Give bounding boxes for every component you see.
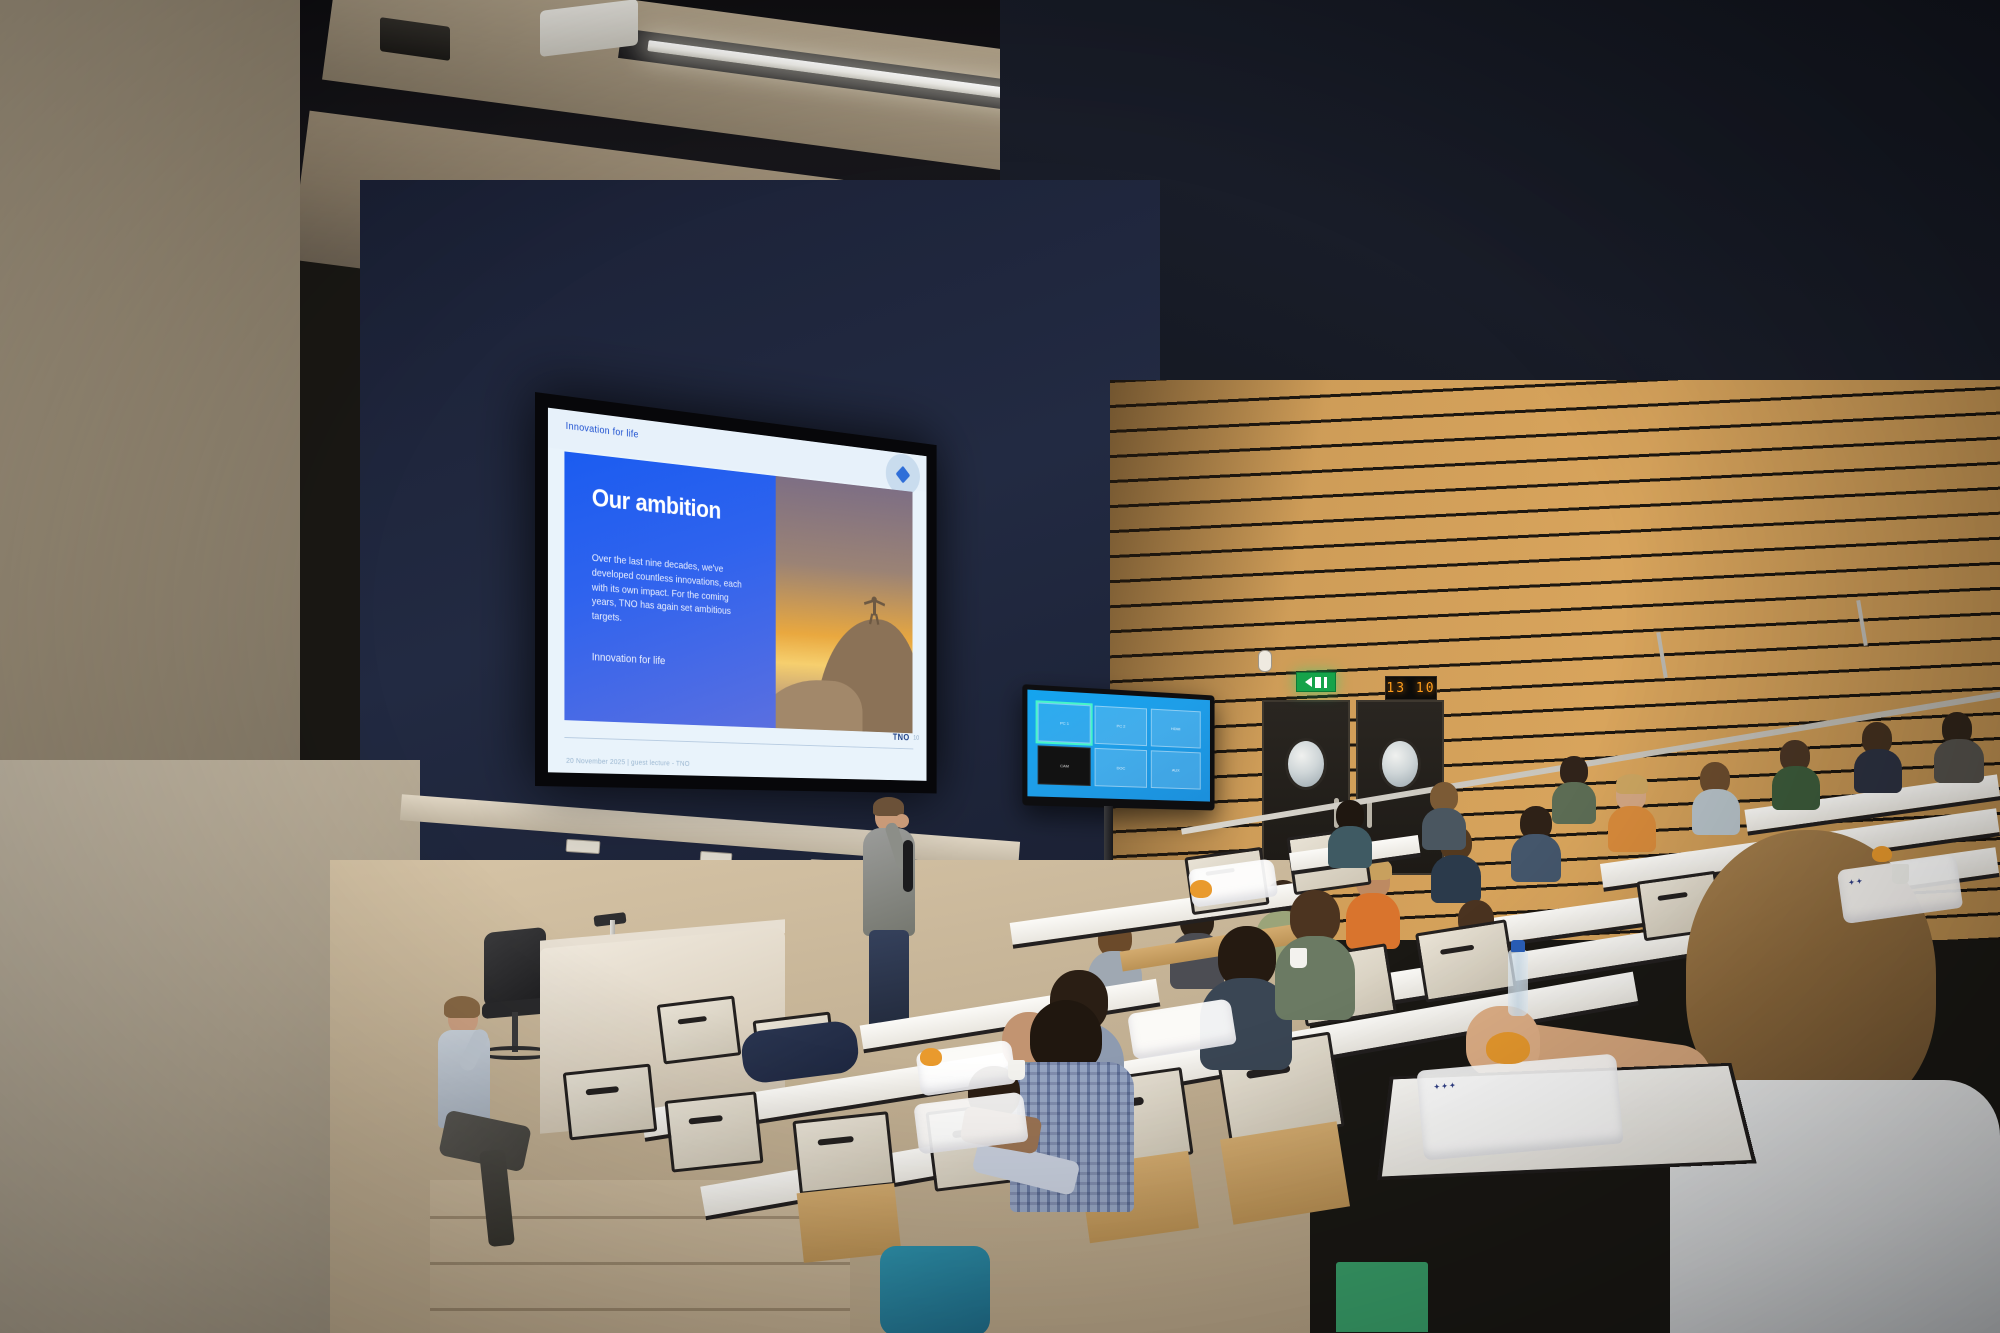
audience-far-3-body [1934, 739, 1984, 783]
audience-far-6-body [1511, 834, 1561, 882]
wood-seat-base-2 [1220, 1121, 1350, 1224]
presenter-microphone[interactable] [903, 840, 913, 892]
seat-back-front-3 [563, 1064, 658, 1141]
exit-door-icon [1324, 677, 1327, 688]
av-control-monitor[interactable]: PC 1 PC 2 HDMI CAM DOC AUX [1022, 684, 1214, 810]
orange-peel-foreground [1486, 1032, 1530, 1064]
wall-socket-1[interactable] [566, 839, 601, 854]
figure-leg-right [875, 614, 879, 625]
slide-body: Our ambition Over the last nine decades,… [565, 452, 913, 734]
monitor-tile-6[interactable]: AUX [1151, 750, 1201, 789]
monitor-tile-2[interactable]: PC 2 [1095, 706, 1147, 747]
lunch-bag-print-2: ✦ ✦ [1848, 877, 1863, 887]
slide-footer-rule [565, 737, 913, 749]
water-bottle [1508, 950, 1528, 1016]
exit-arrow-icon [1305, 677, 1312, 687]
lunch-bag-foreground: ✦ ✦ ✦ [1416, 1053, 1623, 1160]
step-edge-2 [430, 1262, 850, 1265]
audience-center-3-body [1552, 782, 1596, 824]
wall-speaker-small [1258, 650, 1272, 672]
audience-far-2-body [1854, 749, 1902, 793]
monitor-tile-5[interactable]: DOC [1095, 748, 1147, 788]
diamond-logo-icon [895, 466, 910, 484]
audience-mid-1-body [1346, 893, 1400, 949]
presenter-trousers [869, 930, 909, 1030]
step-edge-3 [430, 1308, 850, 1311]
audience-far-5-hair [1616, 774, 1648, 794]
seat-back-mid-4 [1415, 919, 1517, 1003]
audience-center-2-body [1422, 808, 1466, 850]
backpack [880, 1246, 990, 1333]
person-silhouette-icon [864, 593, 887, 625]
orange-3 [1872, 846, 1892, 862]
monitor-tile-6-label: AUX [1172, 767, 1180, 772]
door-porthole-left [1285, 738, 1327, 790]
tno-logo: TNO [893, 732, 910, 742]
slide-surface: Innovation for life Our ambition Over th… [548, 408, 927, 781]
audience-center-1-body [1328, 826, 1372, 868]
monitor-tile-4[interactable]: CAM [1038, 745, 1091, 786]
monitor-tile-1-label: PC 1 [1060, 720, 1069, 726]
paper-cup-3 [1892, 864, 1909, 884]
slide-tagline: Innovation for life [592, 651, 755, 672]
audience-far-1-body [1772, 766, 1820, 810]
paper-cup-1 [1008, 1060, 1025, 1080]
exit-person-icon [1315, 677, 1321, 688]
audience-far-4-body [1692, 789, 1740, 835]
seat-back-front-5 [792, 1111, 895, 1195]
presenter-hair [873, 797, 904, 816]
seated-observer [438, 1000, 528, 1250]
seat-back-front-4 [664, 1091, 763, 1172]
figure-leg-left [869, 613, 873, 624]
slide-image-panel [776, 476, 913, 733]
emergency-exit-icon [1296, 672, 1336, 692]
orange-2 [920, 1048, 942, 1066]
monitor-tile-4-label: CAM [1060, 763, 1069, 768]
projection-screen: Innovation for life Our ambition Over th… [535, 392, 937, 793]
slide-title: Our ambition [592, 484, 755, 529]
presenter-hand [895, 814, 909, 828]
orange-1 [1190, 880, 1212, 898]
slide-footer-text: 20 November 2025 | guest lecture - TNO [566, 756, 690, 768]
lunch-bag-print: ✦ ✦ ✦ [1434, 1082, 1456, 1092]
monitor-tile-3[interactable]: HDMI [1151, 709, 1201, 749]
audience-far-7-body [1431, 855, 1481, 903]
paper-cup-2 [1290, 948, 1307, 968]
slide-text-panel: Our ambition Over the last nine decades,… [565, 452, 776, 728]
slide-paragraph: Over the last nine decades, we've develo… [592, 552, 749, 635]
lecture-hall-photo: Innovation for life Our ambition Over th… [0, 0, 2000, 1333]
av-monitor-screen[interactable]: PC 1 PC 2 HDMI CAM DOC AUX [1027, 690, 1210, 802]
folded-seat-green [1336, 1262, 1428, 1332]
monitor-tile-2-label: PC 2 [1117, 723, 1126, 728]
office-chair-back [484, 927, 546, 1008]
wall-clock: 13 10 [1385, 676, 1437, 700]
monitor-tile-3-label: HDMI [1171, 726, 1181, 731]
monitor-tile-5-label: DOC [1117, 765, 1126, 770]
slide-header-tagline: Innovation for life [566, 421, 639, 441]
monitor-tile-1[interactable]: PC 1 [1038, 702, 1091, 743]
seat-back-front-1 [657, 995, 742, 1064]
water-bottle-cap [1511, 940, 1525, 952]
slide-page-number: 10 [913, 735, 919, 741]
observer-hair [444, 996, 480, 1018]
audience-far-5-body [1608, 806, 1656, 852]
audience-front-4-body [1275, 936, 1355, 1020]
door-porthole-right [1379, 738, 1421, 790]
presenter [855, 800, 925, 1030]
